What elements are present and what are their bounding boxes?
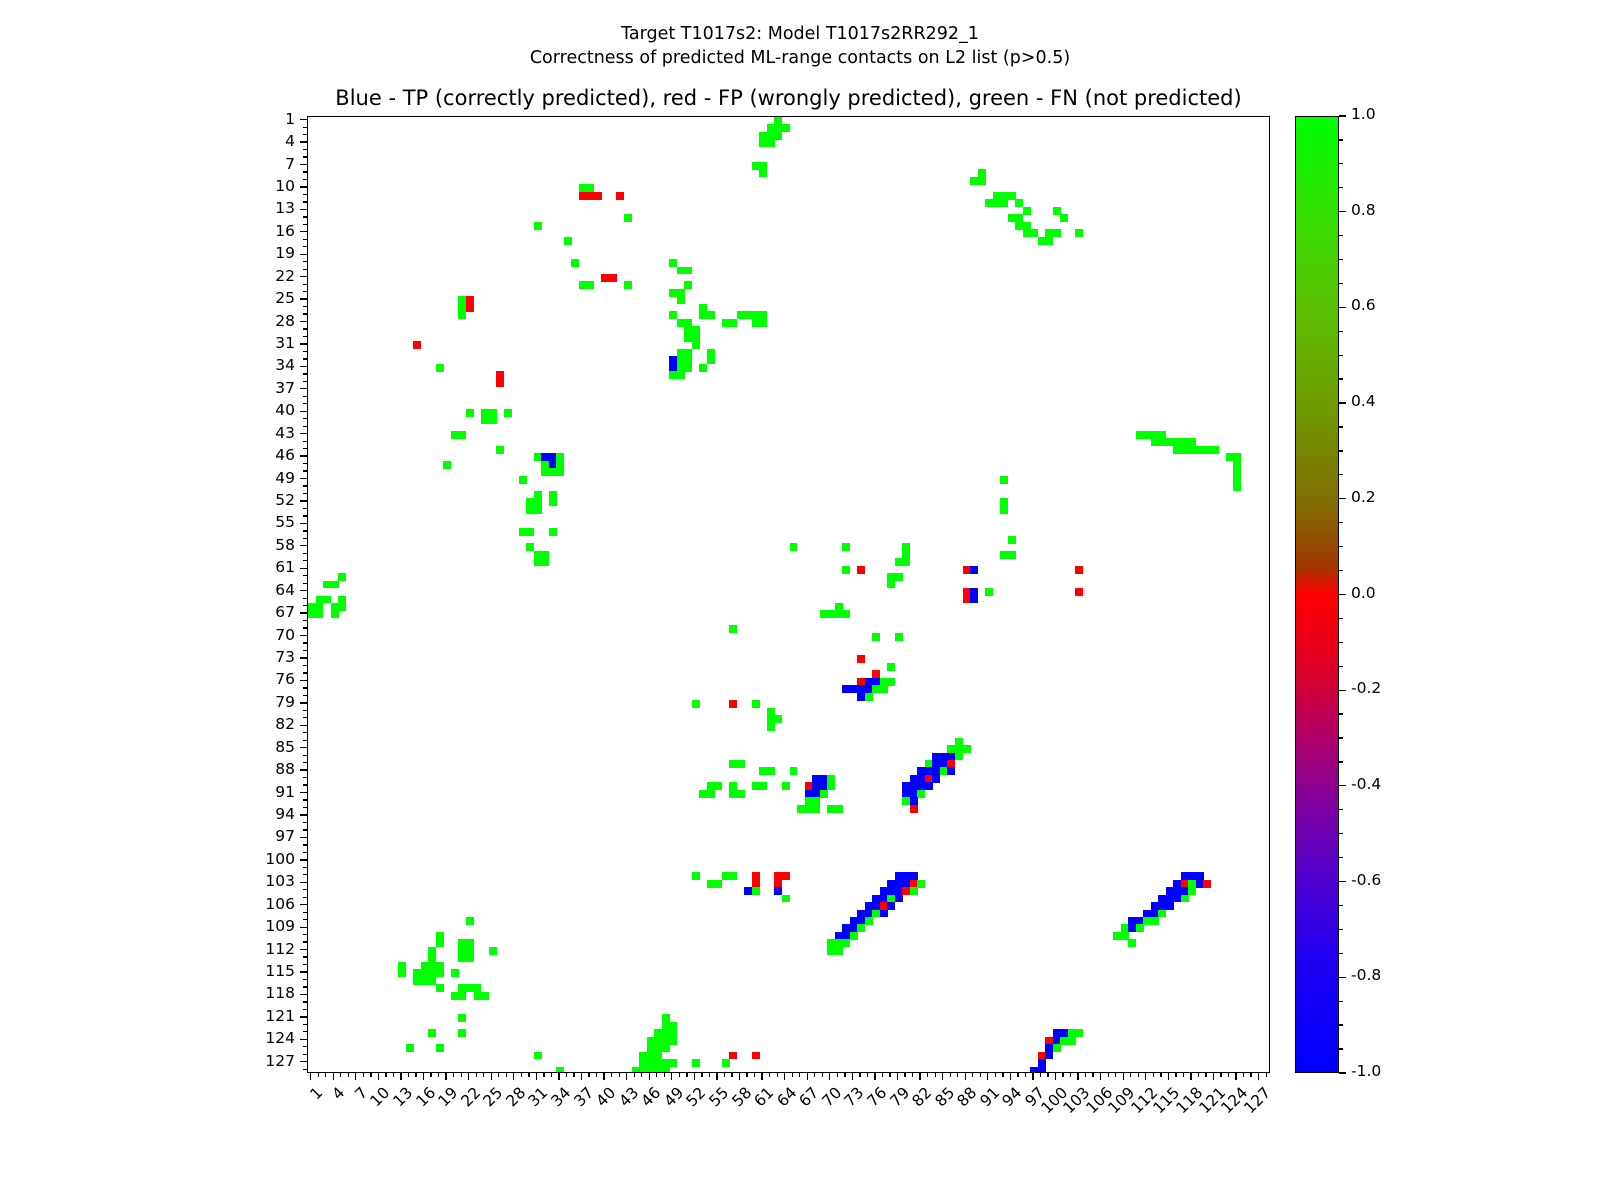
contact-cell	[504, 409, 512, 417]
y-axis-tick	[300, 478, 307, 479]
y-axis-tick	[303, 777, 307, 778]
y-axis-tick	[303, 485, 307, 486]
contact-cell	[677, 371, 685, 379]
contact-cell	[865, 917, 873, 925]
x-axis-tick	[844, 1073, 845, 1077]
x-axis-tick	[859, 1073, 860, 1077]
y-axis-label: 127	[245, 1054, 295, 1069]
x-axis-tick	[528, 1073, 529, 1077]
y-axis-label: 4	[245, 134, 295, 149]
contact-cell	[880, 910, 888, 918]
y-axis-label: 106	[245, 897, 295, 912]
contact-cell	[1045, 1052, 1053, 1060]
y-axis-tick	[303, 156, 307, 157]
y-axis-tick	[300, 859, 307, 860]
y-axis-label: 16	[245, 224, 295, 239]
colorbar-label: -0.6	[1351, 873, 1381, 888]
colorbar-tick	[1339, 666, 1343, 667]
contact-cell	[737, 790, 745, 798]
x-axis-tick	[761, 1073, 762, 1080]
y-axis-tick	[303, 269, 307, 270]
y-axis-tick	[300, 1039, 307, 1040]
contact-cell	[850, 932, 858, 940]
y-axis-label: 34	[245, 358, 295, 373]
y-axis-tick	[303, 822, 307, 823]
x-axis-tick	[445, 1073, 446, 1080]
y-axis-tick	[300, 814, 307, 815]
x-axis-tick	[408, 1073, 409, 1077]
x-axis-tick	[889, 1073, 890, 1077]
x-axis-tick	[754, 1073, 755, 1077]
contact-cell	[782, 782, 790, 790]
contact-cell	[842, 566, 850, 574]
x-axis-tick	[385, 1073, 386, 1077]
colorbar-tick	[1339, 929, 1343, 930]
contact-cell	[1053, 229, 1061, 237]
y-axis-tick	[300, 725, 307, 726]
y-axis-tick	[303, 470, 307, 471]
contact-cell	[895, 573, 903, 581]
contact-cell	[827, 782, 835, 790]
y-axis-tick	[300, 388, 307, 389]
y-axis-tick	[303, 284, 307, 285]
contact-cell	[872, 633, 880, 641]
contact-cell	[481, 992, 489, 1000]
x-axis-tick	[822, 1073, 823, 1077]
contact-cell	[1000, 476, 1008, 484]
y-axis-tick	[303, 784, 307, 785]
y-axis-label: 94	[245, 807, 295, 822]
x-axis-tick	[671, 1073, 672, 1080]
x-axis-tick	[325, 1073, 326, 1077]
contact-cell	[842, 610, 850, 618]
y-axis-tick	[300, 971, 307, 972]
y-axis-tick	[303, 1009, 307, 1010]
contact-cell	[759, 169, 767, 177]
y-axis-tick	[303, 179, 307, 180]
contact-cell	[917, 880, 925, 888]
x-axis-tick	[1160, 1073, 1161, 1077]
y-axis-tick	[300, 657, 307, 658]
contact-cell	[790, 543, 798, 551]
contact-cell	[458, 311, 466, 319]
contact-cell	[436, 1044, 444, 1052]
x-axis-tick	[1235, 1073, 1236, 1080]
y-axis-tick	[303, 807, 307, 808]
contact-cell	[413, 341, 421, 349]
contact-map-plot[interactable]	[307, 116, 1270, 1073]
x-axis-tick	[393, 1073, 394, 1077]
contact-cell	[887, 581, 895, 589]
y-axis-tick	[303, 418, 307, 419]
contact-cell	[985, 588, 993, 596]
contact-cell	[947, 767, 955, 775]
x-axis-tick	[867, 1073, 868, 1077]
y-axis-tick	[300, 343, 307, 344]
y-axis-tick	[303, 1024, 307, 1025]
x-axis-tick	[603, 1073, 604, 1080]
contact-cell	[338, 573, 346, 581]
contact-cell	[895, 633, 903, 641]
contact-cell	[1075, 229, 1083, 237]
contact-cell	[1038, 1067, 1046, 1072]
contact-cell	[677, 296, 685, 304]
x-axis-tick	[972, 1073, 973, 1077]
contact-cell	[722, 1059, 730, 1067]
contact-cell	[466, 409, 474, 417]
y-axis-label: 22	[245, 269, 295, 284]
y-axis-tick	[303, 134, 307, 135]
y-axis-tick	[303, 620, 307, 621]
x-axis-tick	[1198, 1073, 1199, 1077]
x-axis-tick	[724, 1073, 725, 1077]
x-axis-tick	[1205, 1073, 1206, 1077]
y-axis-tick	[300, 837, 307, 838]
y-axis-tick	[303, 1069, 307, 1070]
x-axis-tick	[378, 1073, 379, 1080]
colorbar-tick	[1339, 259, 1343, 260]
contact-cell	[398, 969, 406, 977]
contact-cell	[624, 214, 632, 222]
colorbar-tick	[1339, 426, 1343, 427]
x-axis-tick	[438, 1073, 439, 1077]
y-axis-tick	[303, 373, 307, 374]
colorbar-tick	[1339, 977, 1346, 978]
x-axis-tick	[400, 1073, 401, 1080]
contact-cell	[406, 1044, 414, 1052]
x-axis-tick	[904, 1073, 905, 1077]
colorbar-tick	[1339, 139, 1343, 140]
y-axis-tick	[303, 530, 307, 531]
contact-cell	[684, 364, 692, 372]
colorbar-tick	[1339, 1001, 1343, 1002]
colorbar-tick	[1339, 187, 1343, 188]
contact-cell	[616, 192, 624, 200]
contact-cell	[1233, 483, 1241, 491]
contact-cell	[526, 528, 534, 536]
contact-cell	[880, 685, 888, 693]
x-axis-tick	[709, 1073, 710, 1077]
contact-cell	[428, 1029, 436, 1037]
x-axis-tick	[1250, 1073, 1251, 1077]
y-axis-tick	[303, 583, 307, 584]
y-axis-tick	[303, 328, 307, 329]
colorbar-tick	[1339, 115, 1346, 116]
x-axis-tick	[769, 1073, 770, 1077]
x-axis-tick	[1220, 1073, 1221, 1077]
contact-cell	[692, 341, 700, 349]
contact-cell	[737, 760, 745, 768]
x-axis-tick	[837, 1073, 838, 1077]
x-axis-tick	[874, 1073, 875, 1080]
y-axis-tick	[303, 979, 307, 980]
x-axis-tick	[1070, 1073, 1071, 1077]
colorbar-tick	[1339, 737, 1343, 738]
contact-cell	[436, 939, 444, 947]
x-axis-tick	[310, 1073, 311, 1080]
contact-cell	[774, 132, 782, 140]
contact-cell	[534, 506, 542, 514]
y-axis-tick	[300, 1016, 307, 1017]
contact-cell	[458, 1029, 466, 1037]
y-axis-tick	[303, 261, 307, 262]
x-axis-tick	[430, 1073, 431, 1077]
contact-cell	[609, 274, 617, 282]
y-axis-tick	[300, 904, 307, 905]
contact-cell	[1136, 924, 1144, 932]
x-axis-tick	[611, 1073, 612, 1077]
x-axis-tick	[777, 1073, 778, 1077]
x-axis-tick	[1040, 1073, 1041, 1077]
y-axis-tick	[300, 455, 307, 456]
colorbar-tick	[1339, 570, 1343, 571]
colorbar-tick	[1339, 857, 1343, 858]
contact-cell	[669, 1059, 677, 1067]
y-axis-tick	[303, 740, 307, 741]
contact-cell	[436, 969, 444, 977]
suptitle-line-2: Correctness of predicted ML-range contac…	[0, 46, 1600, 70]
colorbar-tick	[1339, 355, 1343, 356]
x-axis-tick	[536, 1073, 537, 1080]
y-axis-tick	[300, 276, 307, 277]
y-axis-tick	[303, 313, 307, 314]
colorbar-label: -0.8	[1351, 968, 1381, 983]
contact-cell	[752, 887, 760, 895]
x-axis-tick	[1108, 1073, 1109, 1077]
contact-cell	[1068, 1037, 1076, 1045]
y-axis-label: 13	[245, 201, 295, 216]
y-axis-tick	[303, 351, 307, 352]
contact-cell	[767, 767, 775, 775]
x-axis-tick	[558, 1073, 559, 1080]
y-axis-label: 37	[245, 381, 295, 396]
x-axis-tick	[498, 1073, 499, 1077]
contact-cell	[955, 753, 963, 761]
x-axis-tick	[814, 1073, 815, 1077]
contact-cell	[835, 947, 843, 955]
x-axis-tick	[1213, 1073, 1214, 1080]
x-axis-tick	[588, 1073, 589, 1077]
y-axis-tick	[303, 246, 307, 247]
y-axis-tick	[303, 1031, 307, 1032]
y-axis-tick	[303, 897, 307, 898]
y-axis-tick	[300, 433, 307, 434]
x-axis-tick	[1002, 1073, 1003, 1077]
x-axis-tick	[476, 1073, 477, 1077]
contact-cell	[857, 924, 865, 932]
contact-cell	[564, 237, 572, 245]
contact-cell	[978, 177, 986, 185]
y-axis-label: 76	[245, 672, 295, 687]
x-axis-tick	[1266, 1073, 1267, 1077]
contact-cell	[970, 596, 978, 604]
y-axis-tick	[303, 665, 307, 666]
x-axis-tick	[370, 1073, 371, 1077]
x-axis-tick	[543, 1073, 544, 1077]
y-axis-tick	[300, 141, 307, 142]
x-axis-tick	[807, 1073, 808, 1080]
y-axis-tick	[300, 680, 307, 681]
y-axis-tick	[303, 695, 307, 696]
colorbar-tick	[1339, 761, 1343, 762]
y-axis-tick	[303, 755, 307, 756]
y-axis-tick	[303, 852, 307, 853]
x-axis-tick	[641, 1073, 642, 1077]
y-axis-tick	[303, 194, 307, 195]
y-axis-tick	[303, 710, 307, 711]
x-axis-tick	[1010, 1073, 1011, 1080]
colorbar-tick	[1339, 618, 1343, 619]
contact-cell	[466, 304, 474, 312]
x-axis-tick	[995, 1073, 996, 1077]
contact-cell	[489, 947, 497, 955]
colorbar-tick	[1339, 785, 1346, 786]
y-axis-tick	[303, 986, 307, 987]
contact-cell	[963, 745, 971, 753]
x-axis-tick	[912, 1073, 913, 1077]
x-axis-tick	[1153, 1073, 1154, 1077]
y-axis-label: 1	[245, 112, 295, 127]
y-axis-label: 46	[245, 448, 295, 463]
y-axis-tick	[303, 889, 307, 890]
x-axis-tick	[1183, 1073, 1184, 1077]
contact-cell	[692, 700, 700, 708]
x-axis-tick	[731, 1073, 732, 1077]
contact-cell	[519, 476, 527, 484]
y-axis-tick	[300, 523, 307, 524]
y-axis-label: 58	[245, 538, 295, 553]
y-axis-label: 19	[245, 246, 295, 261]
colorbar-label: 0.8	[1351, 203, 1376, 218]
y-axis-tick	[300, 792, 307, 793]
y-axis-label: 67	[245, 605, 295, 620]
y-axis-tick	[303, 463, 307, 464]
contact-cell	[932, 775, 940, 783]
x-axis-tick	[551, 1073, 552, 1077]
x-axis-tick	[919, 1073, 920, 1080]
x-axis-tick	[318, 1073, 319, 1077]
contact-cell	[1211, 446, 1219, 454]
y-axis-tick	[303, 396, 307, 397]
contact-cell	[910, 805, 918, 813]
y-axis-tick	[300, 590, 307, 591]
colorbar-label: 1.0	[1351, 107, 1376, 122]
y-axis-tick	[300, 254, 307, 255]
contact-cell	[662, 1044, 670, 1052]
colorbar[interactable]: 1.00.80.60.40.20.0-0.2-0.4-0.6-0.8-1.0	[1295, 116, 1339, 1073]
contact-cell	[451, 969, 459, 977]
y-axis-label: 43	[245, 426, 295, 441]
y-axis-tick	[303, 216, 307, 217]
contact-cell	[458, 1014, 466, 1022]
contact-cell	[902, 558, 910, 566]
y-axis-label: 118	[245, 986, 295, 1001]
contact-cell	[331, 610, 339, 618]
contact-cell	[1000, 199, 1008, 207]
contact-cell	[1045, 237, 1053, 245]
colorbar-tick	[1339, 905, 1343, 906]
contact-cell	[1008, 551, 1016, 559]
y-axis-tick	[303, 403, 307, 404]
x-axis-tick	[1085, 1073, 1086, 1077]
y-axis-tick	[303, 934, 307, 935]
y-axis-tick	[300, 231, 307, 232]
contact-cell	[594, 192, 602, 200]
contact-cell	[541, 558, 549, 566]
y-axis-tick	[303, 448, 307, 449]
contact-cell	[970, 566, 978, 574]
colorbar-tick	[1339, 594, 1346, 595]
contact-cell	[436, 364, 444, 372]
contact-cell	[767, 723, 775, 731]
colorbar-tick	[1339, 307, 1346, 308]
contact-cell	[699, 364, 707, 372]
colorbar-tick	[1339, 283, 1343, 284]
contact-cell	[782, 895, 790, 903]
contact-cell	[1203, 880, 1211, 888]
y-axis-tick	[303, 560, 307, 561]
contact-cell	[820, 790, 828, 798]
colorbar-label: -1.0	[1351, 1064, 1381, 1079]
x-axis-tick	[619, 1073, 620, 1077]
y-axis-label: 52	[245, 493, 295, 508]
y-axis-tick	[303, 239, 307, 240]
colorbar-tick	[1339, 713, 1343, 714]
x-axis-tick	[1190, 1073, 1191, 1080]
y-axis-tick	[300, 568, 307, 569]
colorbar-tick	[1339, 546, 1343, 547]
contact-cell	[684, 267, 692, 275]
y-axis-tick	[300, 366, 307, 367]
contact-cell	[1151, 917, 1159, 925]
x-axis-tick	[1168, 1073, 1169, 1080]
contact-cell	[895, 895, 903, 903]
x-axis-tick	[897, 1073, 898, 1080]
x-axis-tick	[1025, 1073, 1026, 1077]
y-axis-tick	[300, 164, 307, 165]
y-axis-label: 64	[245, 583, 295, 598]
y-axis-tick	[300, 994, 307, 995]
x-axis-tick	[1123, 1073, 1124, 1080]
y-axis-tick	[303, 672, 307, 673]
contact-cell	[910, 887, 918, 895]
y-axis-tick	[300, 298, 307, 299]
x-axis-tick	[415, 1073, 416, 1077]
x-axis-tick	[1115, 1073, 1116, 1077]
x-axis-tick	[882, 1073, 883, 1077]
y-axis-tick	[303, 874, 307, 875]
colorbar-label: 0.2	[1351, 490, 1376, 505]
y-axis-tick	[303, 508, 307, 509]
contact-cell	[586, 281, 594, 289]
colorbar-tick	[1339, 402, 1346, 403]
x-axis-tick	[965, 1073, 966, 1080]
contact-cell	[338, 603, 346, 611]
y-axis-tick	[300, 500, 307, 501]
x-axis-tick	[566, 1073, 567, 1077]
contact-cell	[707, 311, 715, 319]
x-axis-tick	[942, 1073, 943, 1080]
colorbar-tick	[1339, 690, 1346, 691]
contact-cell	[571, 259, 579, 267]
y-axis-tick	[303, 336, 307, 337]
colorbar-tick	[1339, 1048, 1343, 1049]
colorbar-tick	[1339, 163, 1343, 164]
y-axis-tick	[303, 912, 307, 913]
y-axis-tick	[303, 642, 307, 643]
contact-cell	[707, 790, 715, 798]
y-axis-tick	[303, 605, 307, 606]
